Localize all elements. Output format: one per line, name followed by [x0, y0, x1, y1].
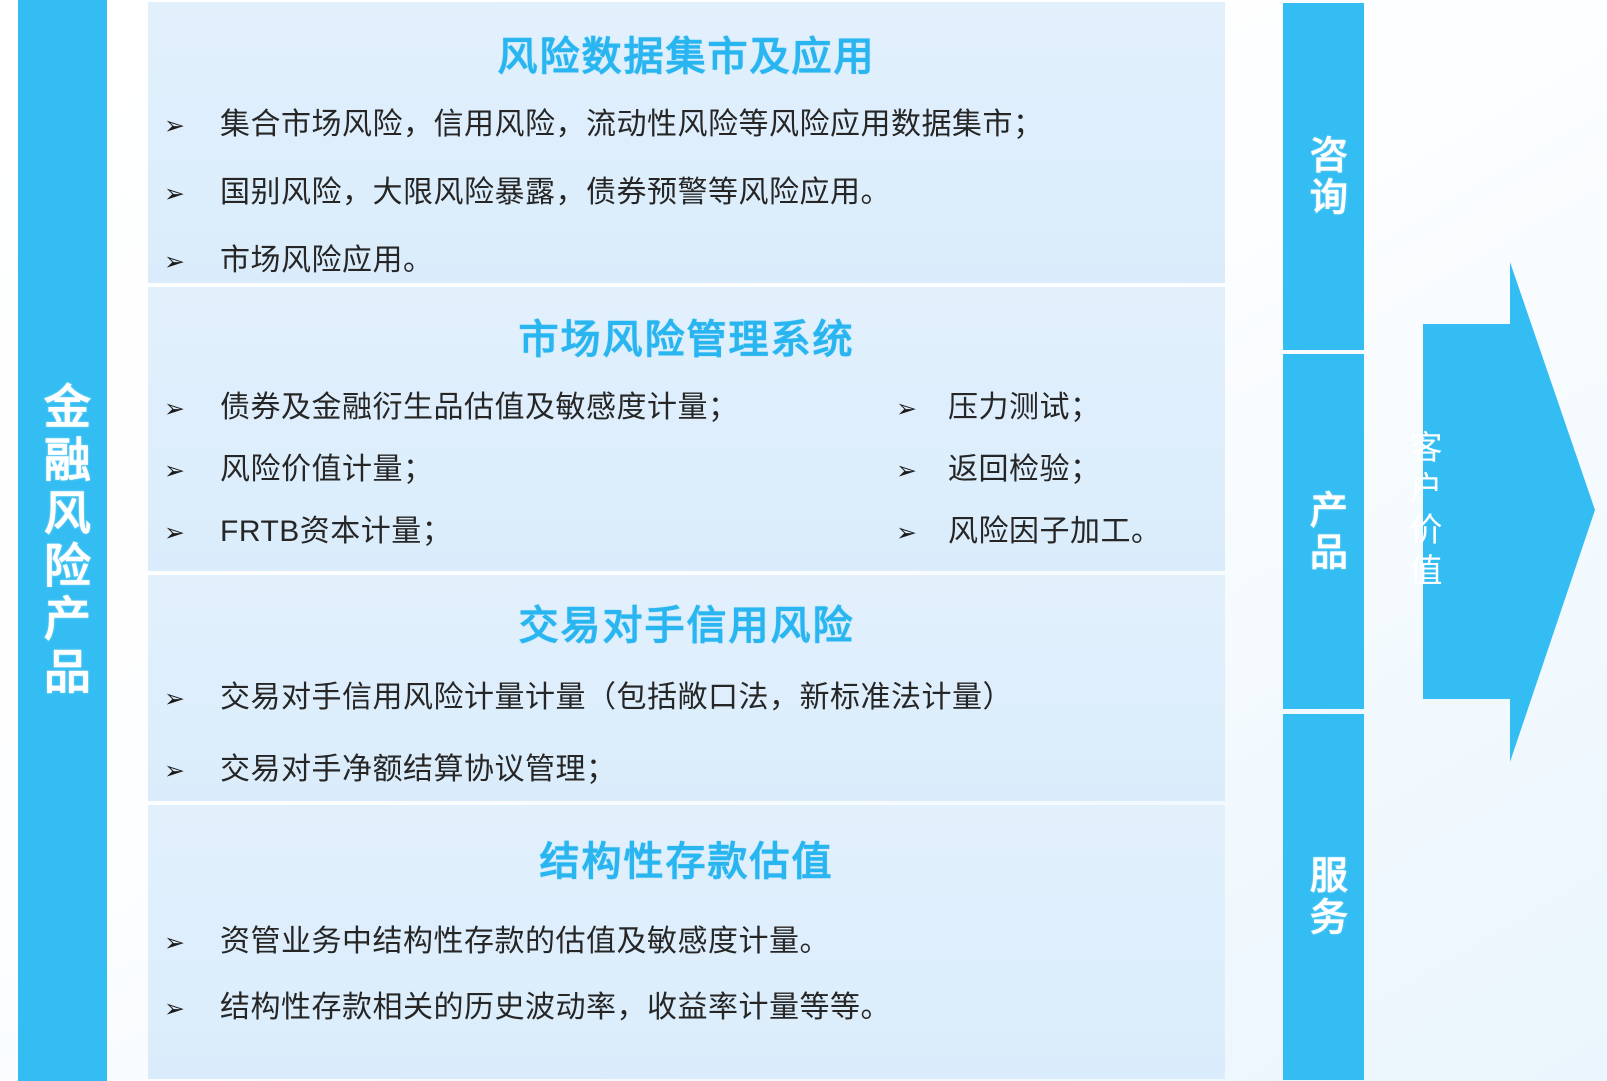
panel-title: 风险数据集市及应用: [148, 24, 1225, 82]
list-item: ➢ FRTB资本计量；: [148, 513, 848, 551]
list-row: ➢ 债券及金融衍生品估值及敏感度计量； ➢ 压力测试；: [148, 389, 1225, 451]
arrow-bullet-icon: ➢: [148, 396, 220, 421]
panel-title: 市场风险管理系统: [148, 307, 1225, 365]
left-banner: 金融风险产品: [18, 0, 107, 1081]
stage-column-consulting: 咨询: [1283, 3, 1364, 350]
bullet-list: ➢ 交易对手信用风险计量计量（包括敞口法，新标准法计量） ➢ 交易对手净额结算协…: [148, 679, 1225, 823]
list-item-text: 交易对手信用风险计量计量（包括敞口法，新标准法计量）: [220, 679, 1013, 717]
panel-counterparty-credit-risk: 交易对手信用风险 ➢ 交易对手信用风险计量计量（包括敞口法，新标准法计量） ➢ …: [148, 575, 1225, 801]
left-banner-label: 金融风险产品: [37, 382, 88, 700]
list-item: ➢ 债券及金融衍生品估值及敏感度计量；: [148, 389, 848, 427]
list-item-text: 风险因子加工。: [948, 513, 1162, 551]
arrow-bullet-icon: ➢: [848, 396, 948, 421]
list-item-text: 国别风险，大限风险暴露，债券预警等风险应用。: [220, 174, 891, 212]
list-item: ➢ 结构性存款相关的历史波动率，收益率计量等等。: [148, 989, 1225, 1055]
stage-column-service: 服务: [1283, 714, 1364, 1080]
arrow-bullet-icon: ➢: [848, 520, 948, 545]
customer-value-arrow: 客户价值: [1382, 262, 1607, 762]
arrow-bullet-icon: ➢: [148, 996, 220, 1021]
list-row: ➢ 风险价值计量； ➢ 返回检验；: [148, 451, 1225, 513]
list-item: ➢ 返回检验；: [848, 451, 1225, 489]
arrow-bullet-icon: ➢: [148, 181, 220, 206]
panel-market-risk-system: 市场风险管理系统 ➢ 债券及金融衍生品估值及敏感度计量； ➢ 压力测试； ➢: [148, 287, 1225, 571]
list-item-text: 结构性存款相关的历史波动率，收益率计量等等。: [220, 989, 891, 1027]
arrow-bullet-icon: ➢: [148, 249, 220, 274]
right-arrow-icon: [1382, 262, 1607, 762]
arrow-bullet-icon: ➢: [148, 930, 220, 955]
list-item: ➢ 压力测试；: [848, 389, 1225, 427]
panel-title: 交易对手信用风险: [148, 593, 1225, 651]
panel-title: 结构性存款估值: [148, 829, 1225, 887]
diagram-canvas: 金融风险产品 风险数据集市及应用 ➢ 集合市场风险，信用风险，流动性风险等风险应…: [0, 0, 1607, 1081]
stage-column-label: 产品: [1303, 490, 1345, 574]
list-item: ➢ 集合市场风险，信用风险，流动性风险等风险应用数据集市；: [148, 106, 1225, 174]
list-item: ➢ 国别风险，大限风险暴露，债券预警等风险应用。: [148, 174, 1225, 242]
list-item-text: 压力测试；: [948, 389, 1101, 427]
stage-column-label: 服务: [1303, 855, 1345, 939]
bullet-list: ➢ 债券及金融衍生品估值及敏感度计量； ➢ 压力测试； ➢ 风险价值计量； ➢: [148, 389, 1225, 575]
panel-structured-deposit-valuation: 结构性存款估值 ➢ 资管业务中结构性存款的估值及敏感度计量。 ➢ 结构性存款相关…: [148, 805, 1225, 1079]
arrow-bullet-icon: ➢: [148, 458, 220, 483]
panel-stack: 风险数据集市及应用 ➢ 集合市场风险，信用风险，流动性风险等风险应用数据集市； …: [148, 0, 1225, 1081]
arrow-bullet-icon: ➢: [148, 686, 220, 711]
list-item: ➢ 风险价值计量；: [148, 451, 848, 489]
bullet-list: ➢ 集合市场风险，信用风险，流动性风险等风险应用数据集市； ➢ 国别风险，大限风…: [148, 106, 1225, 310]
arrow-bullet-icon: ➢: [148, 758, 220, 783]
list-item-text: 债券及金融衍生品估值及敏感度计量；: [220, 389, 739, 427]
arrow-bullet-icon: ➢: [148, 113, 220, 138]
stage-column-product: 产品: [1283, 354, 1364, 709]
list-item-text: FRTB资本计量；: [220, 513, 452, 551]
list-item-text: 市场风险应用。: [220, 242, 434, 280]
bullet-list: ➢ 资管业务中结构性存款的估值及敏感度计量。 ➢ 结构性存款相关的历史波动率，收…: [148, 923, 1225, 1055]
list-item-text: 交易对手净额结算协议管理；: [220, 751, 617, 789]
stage-column-label: 咨询: [1303, 135, 1345, 219]
panel-risk-data-mart: 风险数据集市及应用 ➢ 集合市场风险，信用风险，流动性风险等风险应用数据集市； …: [148, 2, 1225, 283]
list-item: ➢ 资管业务中结构性存款的估值及敏感度计量。: [148, 923, 1225, 989]
list-item-text: 资管业务中结构性存款的估值及敏感度计量。: [220, 923, 830, 961]
arrow-bullet-icon: ➢: [848, 458, 948, 483]
list-item-text: 集合市场风险，信用风险，流动性风险等风险应用数据集市；: [220, 106, 1044, 144]
list-row: ➢ FRTB资本计量； ➢ 风险因子加工。: [148, 513, 1225, 575]
list-item: ➢ 交易对手信用风险计量计量（包括敞口法，新标准法计量）: [148, 679, 1225, 751]
arrow-bullet-icon: ➢: [148, 520, 220, 545]
list-item-text: 风险价值计量；: [220, 451, 434, 489]
list-item-text: 返回检验；: [948, 451, 1101, 489]
list-item: ➢ 风险因子加工。: [848, 513, 1225, 551]
